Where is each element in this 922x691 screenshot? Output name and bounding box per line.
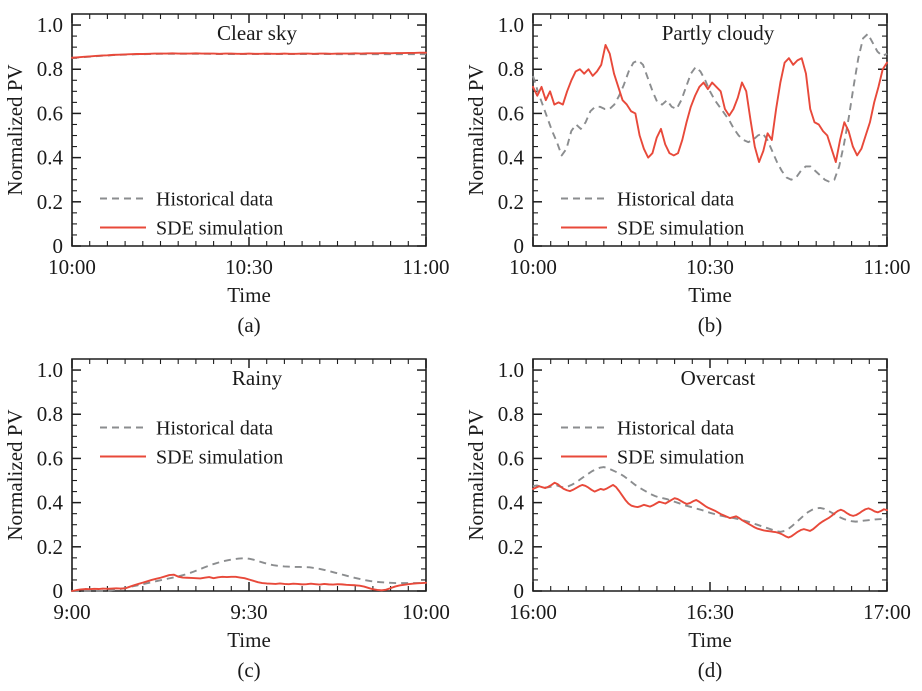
x-tick-label: 11:00	[863, 255, 910, 279]
x-tick-label: 9:30	[230, 600, 267, 624]
y-tick-label: 0.4	[498, 146, 525, 170]
legend-item-historical-label: Historical data	[156, 188, 273, 210]
x-tick-label: 9:00	[53, 600, 90, 624]
legend-item-sde-label: SDE simulation	[617, 217, 744, 239]
plot-area-a: 1.00.80.60.40.2010:0010:3011:00Normalize…	[0, 0, 461, 345]
y-axis-title: Normalized PV	[464, 64, 488, 195]
panel-caption: (d)	[698, 658, 723, 682]
panel-title: Partly cloudy	[662, 21, 775, 45]
series-historical	[533, 467, 887, 532]
x-axis-ticks	[533, 359, 887, 591]
y-axis-ticks	[72, 25, 426, 246]
legend-item-sde-label: SDE simulation	[156, 217, 283, 239]
y-axis-title: Normalized PV	[464, 409, 488, 540]
x-tick-label: 10:00	[509, 255, 557, 279]
y-axis-ticks	[533, 370, 887, 591]
series-historical	[533, 34, 887, 182]
x-tick-label: 10:00	[402, 600, 450, 624]
series-sde	[72, 53, 426, 58]
x-axis-title: Time	[227, 283, 271, 307]
x-tick-label: 16:30	[686, 600, 734, 624]
legend: Historical dataSDE simulation	[561, 417, 744, 468]
plot-area-b: 1.00.80.60.40.2010:0010:3011:00Normalize…	[461, 0, 922, 345]
plot-area-c: 1.00.80.60.40.209:009:3010:00Normalized …	[0, 345, 461, 690]
chart-panel-d: 1.00.80.60.40.2016:0016:3017:00Normalize…	[461, 345, 922, 690]
y-axis-title: Normalized PV	[3, 409, 27, 540]
plot-frame	[72, 359, 426, 591]
panel-title: Overcast	[681, 366, 756, 390]
legend: Historical dataSDE simulation	[100, 188, 283, 239]
legend-item-sde-label: SDE simulation	[617, 446, 744, 468]
y-tick-label: 1.0	[498, 358, 524, 382]
panel-caption: (c)	[237, 658, 260, 682]
panel-caption: (a)	[237, 313, 260, 337]
y-tick-label: 0.2	[37, 190, 63, 214]
y-tick-label: 0.6	[498, 101, 524, 125]
legend-item-historical-label: Historical data	[156, 417, 273, 439]
y-axis-title: Normalized PV	[3, 64, 27, 195]
y-tick-label: 0.6	[498, 446, 524, 470]
figure-root: 1.00.80.60.40.2010:0010:3011:00Normalize…	[0, 0, 922, 691]
legend-item-historical-label: Historical data	[617, 417, 734, 439]
y-tick-label: 0.4	[498, 491, 525, 515]
x-axis-ticks	[72, 359, 426, 591]
panel-title: Rainy	[232, 366, 283, 390]
y-tick-label: 0.2	[498, 535, 524, 559]
y-tick-label: 0.8	[37, 402, 63, 426]
x-tick-label: 11:00	[402, 255, 449, 279]
x-axis-title: Time	[688, 628, 732, 652]
series-sde	[533, 483, 887, 538]
plot-frame	[533, 359, 887, 591]
y-tick-label: 0.2	[37, 535, 63, 559]
legend-item-sde-label: SDE simulation	[156, 446, 283, 468]
y-tick-label: 0.4	[37, 491, 64, 515]
plot-frame	[72, 14, 426, 246]
x-axis-ticks	[533, 14, 887, 246]
chart-panel-b: 1.00.80.60.40.2010:0010:3011:00Normalize…	[461, 0, 922, 345]
y-tick-label: 0.8	[498, 57, 524, 81]
y-tick-label: 0.8	[37, 57, 63, 81]
x-tick-label: 10:30	[686, 255, 734, 279]
x-tick-label: 17:00	[863, 600, 911, 624]
legend: Historical dataSDE simulation	[100, 417, 283, 468]
y-tick-label: 0.4	[37, 146, 64, 170]
x-tick-label: 10:30	[225, 255, 273, 279]
x-axis-ticks	[72, 14, 426, 246]
y-tick-label: 1.0	[37, 358, 63, 382]
x-axis-title: Time	[227, 628, 271, 652]
y-tick-label: 1.0	[37, 13, 63, 37]
y-tick-label: 0.6	[37, 446, 63, 470]
x-tick-label: 16:00	[509, 600, 557, 624]
legend-item-historical-label: Historical data	[617, 188, 734, 210]
y-tick-label: 0.6	[37, 101, 63, 125]
y-tick-label: 0.2	[498, 190, 524, 214]
y-tick-label: 0.8	[498, 402, 524, 426]
x-tick-label: 10:00	[48, 255, 96, 279]
y-axis-ticks	[533, 25, 887, 246]
chart-panel-a: 1.00.80.60.40.2010:0010:3011:00Normalize…	[0, 0, 461, 345]
panel-title: Clear sky	[217, 21, 297, 45]
panel-caption: (b)	[698, 313, 723, 337]
plot-frame	[533, 14, 887, 246]
x-axis-title: Time	[688, 283, 732, 307]
chart-panel-c: 1.00.80.60.40.209:009:3010:00Normalized …	[0, 345, 461, 690]
legend: Historical dataSDE simulation	[561, 188, 744, 239]
series-sde	[533, 45, 887, 162]
y-tick-label: 1.0	[498, 13, 524, 37]
plot-area-d: 1.00.80.60.40.2016:0016:3017:00Normalize…	[461, 345, 922, 690]
